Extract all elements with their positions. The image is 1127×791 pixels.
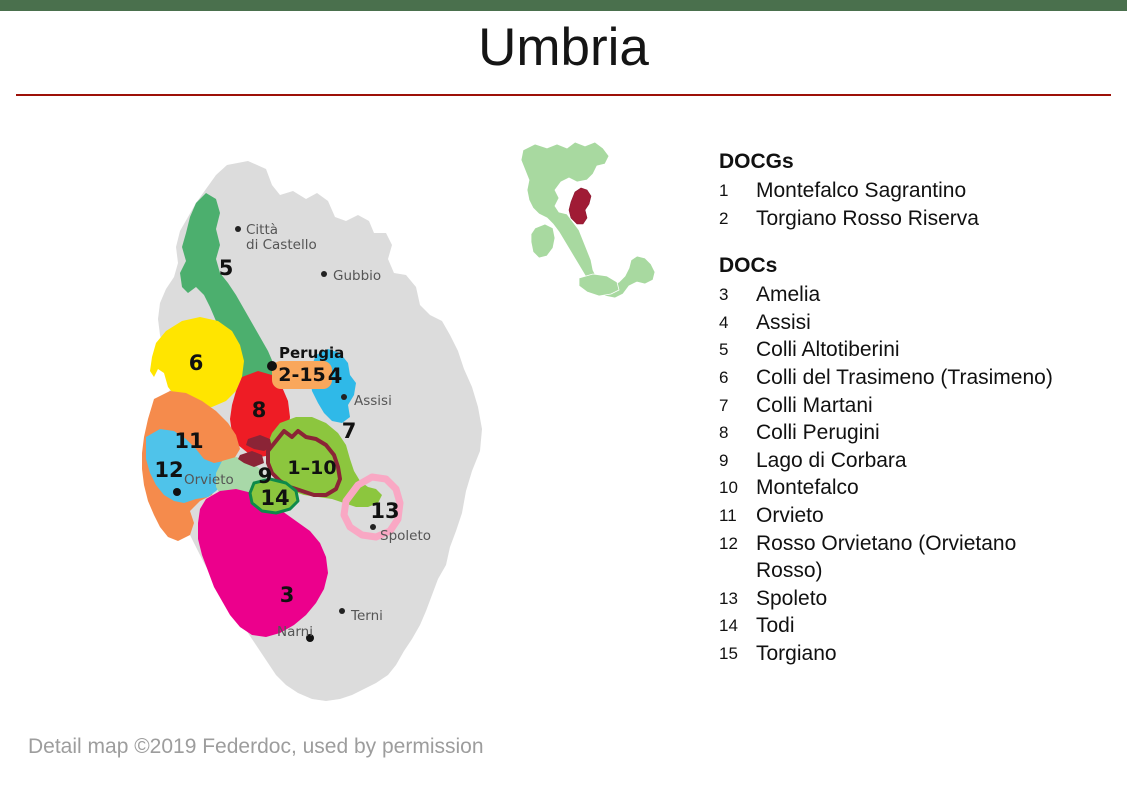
- zone-label-12: 12: [154, 458, 183, 482]
- legend-label: Colli Altotiberini: [756, 336, 900, 364]
- city-dot-orvieto: [173, 488, 181, 496]
- legend-label: Montefalco Sagrantino: [756, 177, 966, 205]
- legend-item-8[interactable]: 8 Colli Perugini: [719, 419, 1119, 447]
- zone-label-9: 9: [258, 464, 273, 488]
- city-label-narni: Narni: [277, 624, 313, 640]
- zone-label-13: 13: [370, 499, 399, 523]
- legend-item-13[interactable]: 13 Spoleto: [719, 585, 1119, 613]
- zone-label-14: 14: [260, 486, 289, 510]
- legend-item-1[interactable]: 1 Montefalco Sagrantino: [719, 177, 1119, 205]
- map-credit-text: Detail map ©2019 Federdoc, used by permi…: [28, 735, 484, 759]
- city-label-citta-di-castello-line1: Città: [246, 222, 278, 238]
- city-dot-spoleto: [370, 524, 376, 530]
- legend-number: 11: [719, 502, 756, 530]
- italy-locator-map: [513, 132, 683, 312]
- zone-2-15-label: 2-15: [278, 364, 326, 386]
- page-title: Umbria: [0, 17, 1127, 79]
- legend-label: Colli del Trasimeno (Trasimeno): [756, 364, 1053, 392]
- legend-label: Montefalco: [756, 474, 859, 502]
- legend-number: 1: [719, 177, 756, 205]
- city-dot-gubbio: [321, 271, 327, 277]
- city-label-assisi: Assisi: [354, 393, 392, 409]
- umbria-highlight-shape: [569, 188, 591, 224]
- header-accent-bar: [0, 0, 1127, 11]
- italy-mainland-shape: [521, 142, 655, 298]
- zone-label-5: 5: [219, 256, 234, 280]
- zone-label-11: 11: [174, 429, 203, 453]
- legend-number: 7: [719, 392, 756, 420]
- zone-label-7: 7: [342, 419, 357, 443]
- legend-label: Todi: [756, 612, 795, 640]
- legend-item-10[interactable]: 10 Montefalco: [719, 474, 1119, 502]
- legend-label: Assisi: [756, 309, 811, 337]
- appellation-legend: DOCGs 1 Montefalco Sagrantino 2 Torgiano…: [719, 148, 1119, 668]
- legend-number: 15: [719, 640, 756, 668]
- legend-number: 8: [719, 419, 756, 447]
- zone-label-4: 4: [328, 364, 343, 388]
- legend-label: Colli Perugini: [756, 419, 880, 447]
- city-dot-terni: [339, 608, 345, 614]
- sardinia-shape: [531, 224, 555, 258]
- legend-label: Torgiano Rosso Riserva: [756, 205, 979, 233]
- legend-number: 3: [719, 281, 756, 309]
- city-label-terni: Terni: [350, 608, 383, 624]
- legend-label: Rosso Orvietano (Orvietano Rosso): [756, 530, 1086, 585]
- zone-label-8: 8: [252, 398, 267, 422]
- legend-heading-docgs: DOCGs: [719, 148, 1119, 176]
- legend-item-6[interactable]: 6 Colli del Trasimeno (Trasimeno): [719, 364, 1119, 392]
- legend-label: Spoleto: [756, 585, 827, 613]
- city-label-perugia: Perugia: [279, 344, 344, 362]
- legend-item-14[interactable]: 14 Todi: [719, 612, 1119, 640]
- legend-item-15[interactable]: 15 Torgiano: [719, 640, 1119, 668]
- zone-label-6: 6: [189, 351, 204, 375]
- legend-number: 2: [719, 205, 756, 233]
- city-label-gubbio: Gubbio: [333, 268, 381, 284]
- legend-number: 14: [719, 612, 756, 640]
- legend-item-3[interactable]: 3 Amelia: [719, 281, 1119, 309]
- legend-number: 6: [719, 364, 756, 392]
- city-dot-assisi: [341, 394, 347, 400]
- legend-number: 12: [719, 530, 756, 558]
- city-label-spoleto: Spoleto: [380, 528, 431, 544]
- city-dot-citta-di-castello: [235, 226, 241, 232]
- city-dot-perugia: [267, 361, 277, 371]
- legend-number: 10: [719, 474, 756, 502]
- legend-item-7[interactable]: 7 Colli Martani: [719, 392, 1119, 420]
- umbria-detail-map: 2-15 5 6 4 8 11 12 9 3 7 1–10 14 13 Citt…: [120, 155, 490, 705]
- zone-label-3: 3: [280, 583, 295, 607]
- legend-number: 9: [719, 447, 756, 475]
- legend-docg-list: 1 Montefalco Sagrantino 2 Torgiano Rosso…: [719, 177, 1119, 232]
- legend-item-11[interactable]: 11 Orvieto: [719, 502, 1119, 530]
- title-divider-rule: [16, 94, 1111, 96]
- sicily-shape: [579, 274, 619, 296]
- legend-label: Amelia: [756, 281, 820, 309]
- legend-item-5[interactable]: 5 Colli Altotiberini: [719, 336, 1119, 364]
- legend-heading-docs: DOCs: [719, 252, 1119, 280]
- legend-item-2[interactable]: 2 Torgiano Rosso Riserva: [719, 205, 1119, 233]
- legend-number: 4: [719, 309, 756, 337]
- legend-doc-list: 3 Amelia 4 Assisi 5 Colli Altotiberini 6…: [719, 281, 1119, 667]
- legend-number: 13: [719, 585, 756, 613]
- legend-item-9[interactable]: 9 Lago di Corbara: [719, 447, 1119, 475]
- legend-number: 5: [719, 336, 756, 364]
- city-label-orvieto: Orvieto: [184, 472, 234, 488]
- legend-item-12[interactable]: 12 Rosso Orvietano (Orvietano Rosso): [719, 530, 1119, 585]
- legend-item-4[interactable]: 4 Assisi: [719, 309, 1119, 337]
- city-label-citta-di-castello-line2: di Castello: [246, 237, 317, 253]
- legend-label: Torgiano: [756, 640, 837, 668]
- zone-label-1-10: 1–10: [287, 457, 336, 479]
- legend-label: Orvieto: [756, 502, 824, 530]
- legend-label: Colli Martani: [756, 392, 873, 420]
- legend-label: Lago di Corbara: [756, 447, 907, 475]
